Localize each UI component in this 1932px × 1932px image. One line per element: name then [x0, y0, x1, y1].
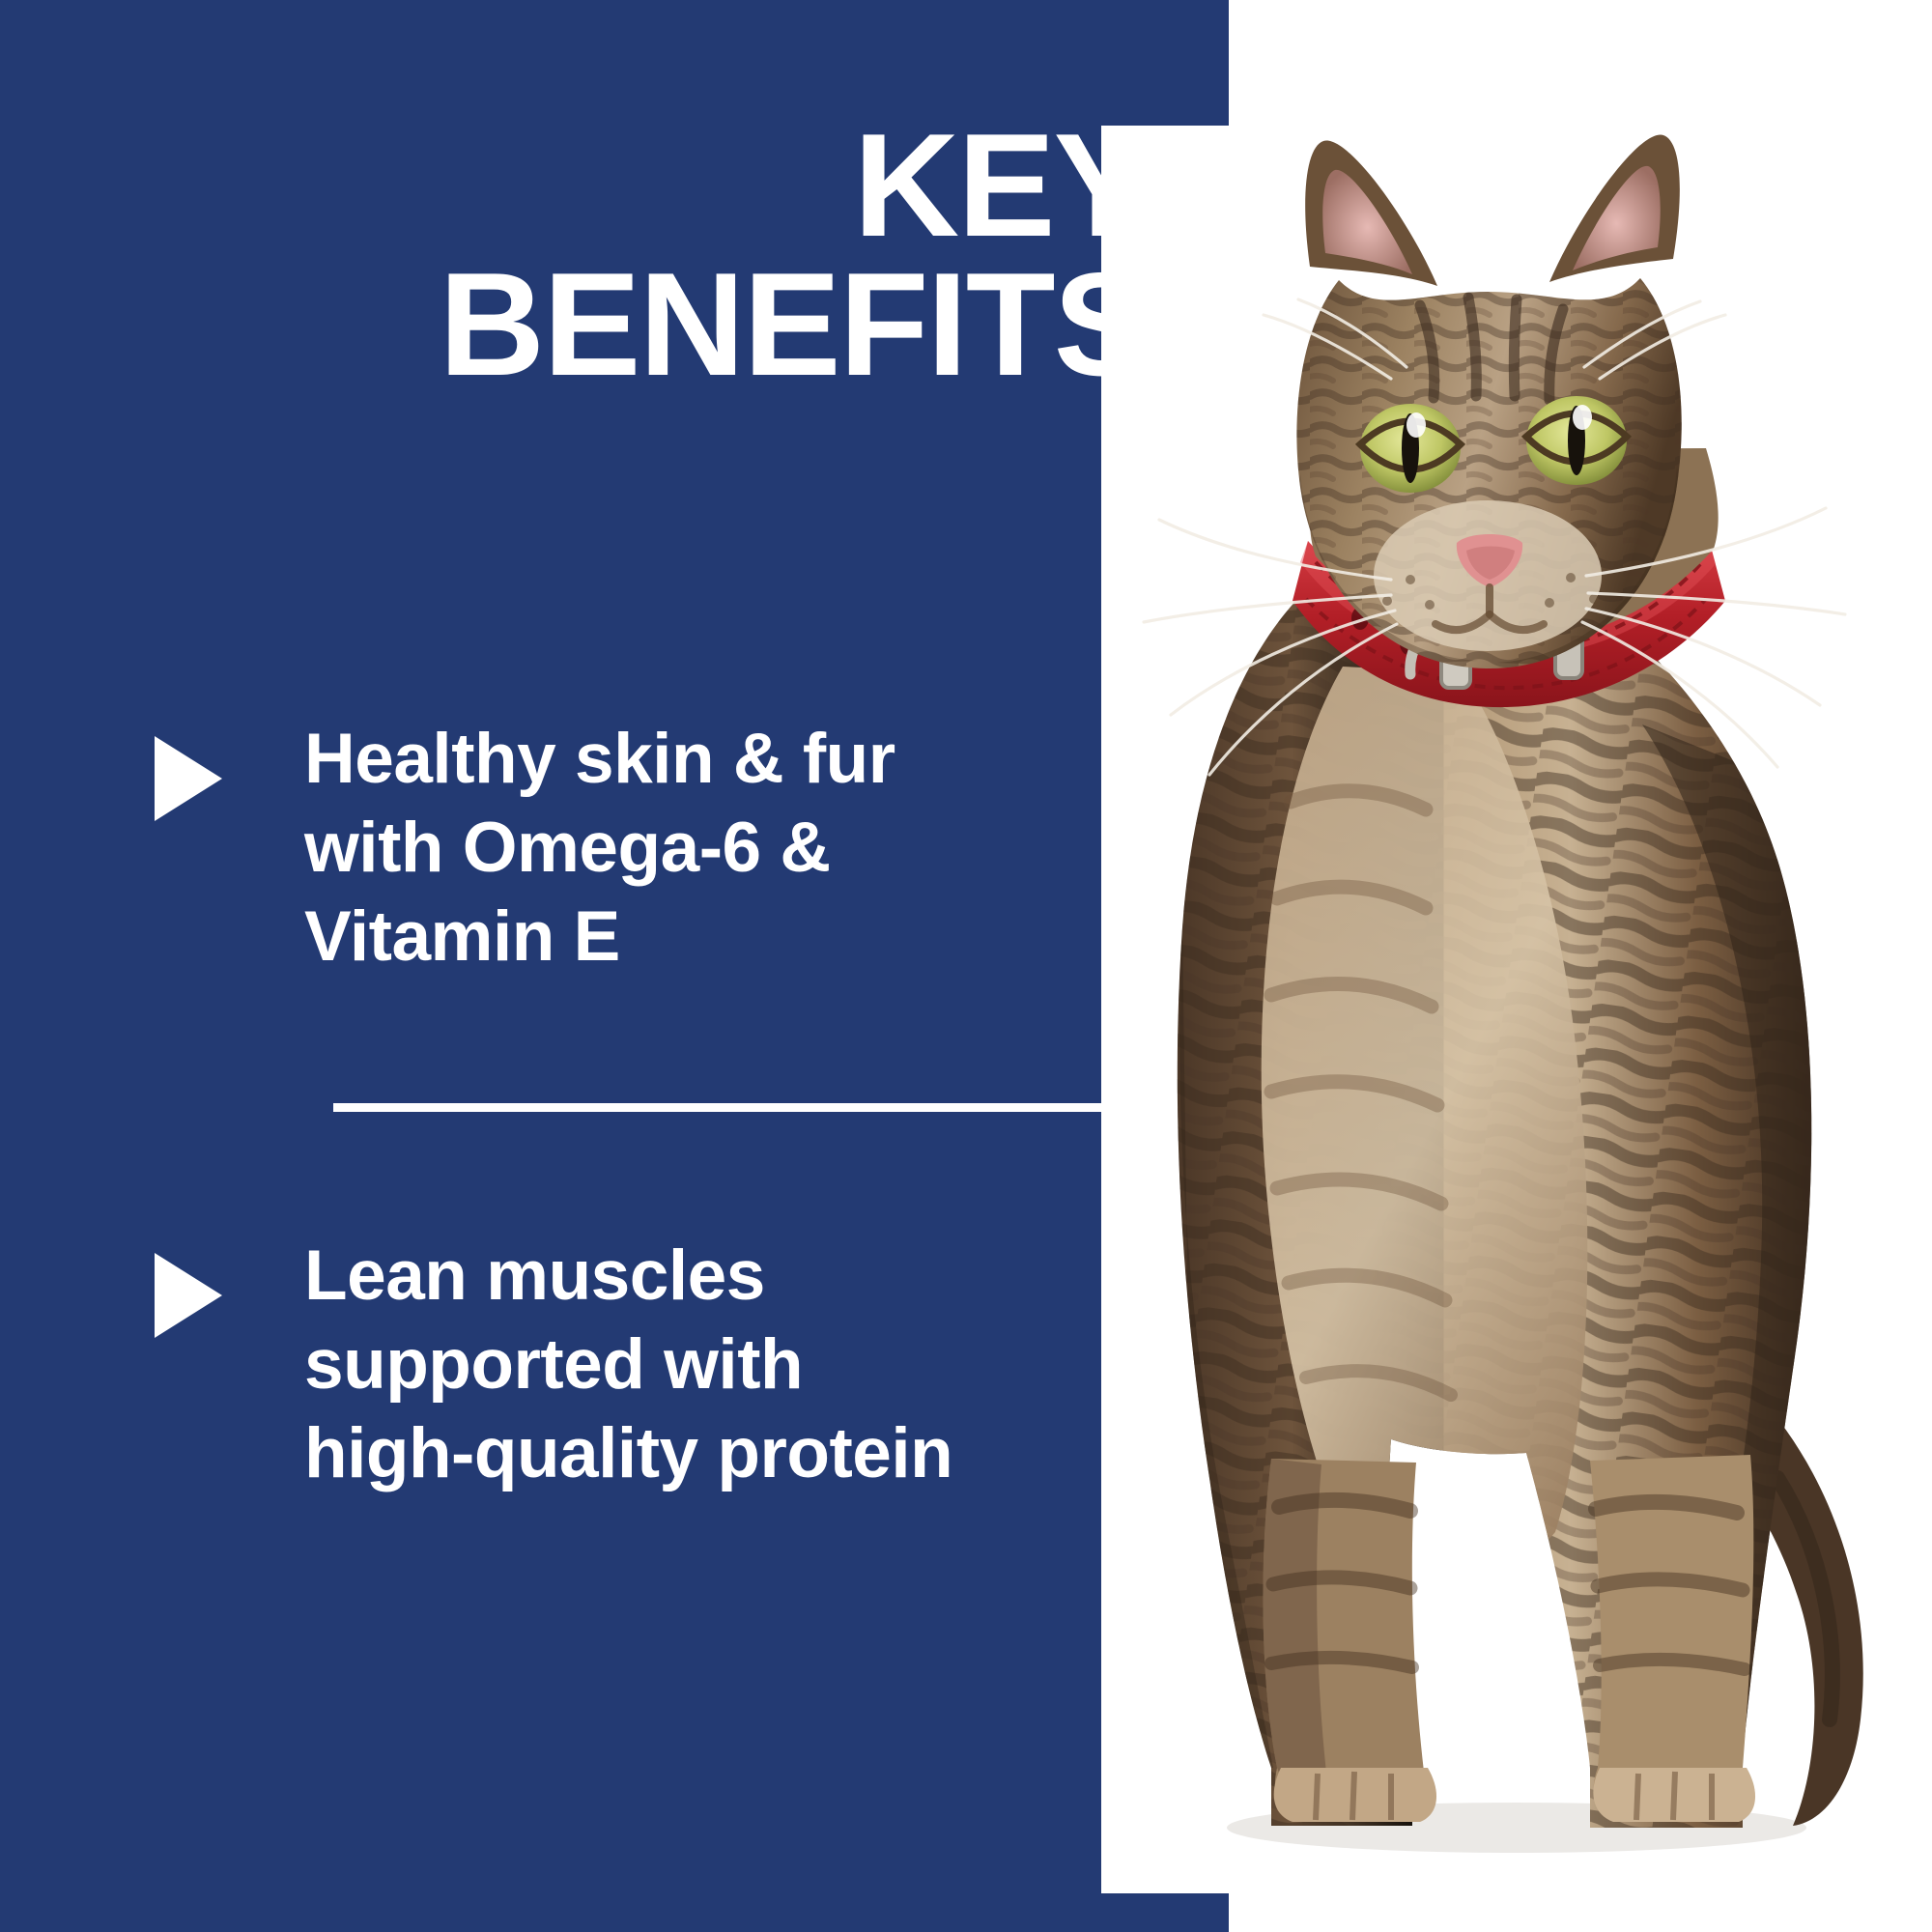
- benefit-2-line-3: high-quality protein: [304, 1409, 952, 1498]
- benefits-list: Healthy skin & fur with Omega-6 & Vitami…: [0, 715, 1229, 1498]
- benefit-item-2-text: Lean muscles supported with high-quality…: [304, 1232, 952, 1498]
- benefit-1-line-1: Healthy skin & fur: [304, 715, 895, 804]
- triangle-right-icon: [155, 1253, 222, 1338]
- page-title: KEY BENEFITS: [0, 116, 1150, 395]
- page-title-line-1: KEY: [0, 116, 1150, 255]
- triangle-right-icon: [155, 736, 222, 821]
- benefit-2-line-2: supported with: [304, 1321, 952, 1409]
- benefit-1-line-2: with Omega-6 &: [304, 804, 895, 893]
- benefit-item-1: Healthy skin & fur with Omega-6 & Vitami…: [0, 715, 1229, 981]
- benefit-item-2: Lean muscles supported with high-quality…: [0, 1232, 1229, 1498]
- benefit-item-1-text: Healthy skin & fur with Omega-6 & Vitami…: [304, 715, 895, 981]
- benefit-2-line-1: Lean muscles: [304, 1232, 952, 1321]
- divider-line: [333, 1103, 1125, 1112]
- page-title-line-2: BENEFITS: [0, 255, 1150, 394]
- key-benefits-panel: KEY BENEFITS Healthy skin & fur with Ome…: [0, 0, 1932, 1932]
- benefits-divider: [0, 1103, 1229, 1104]
- benefit-1-line-3: Vitamin E: [304, 893, 895, 981]
